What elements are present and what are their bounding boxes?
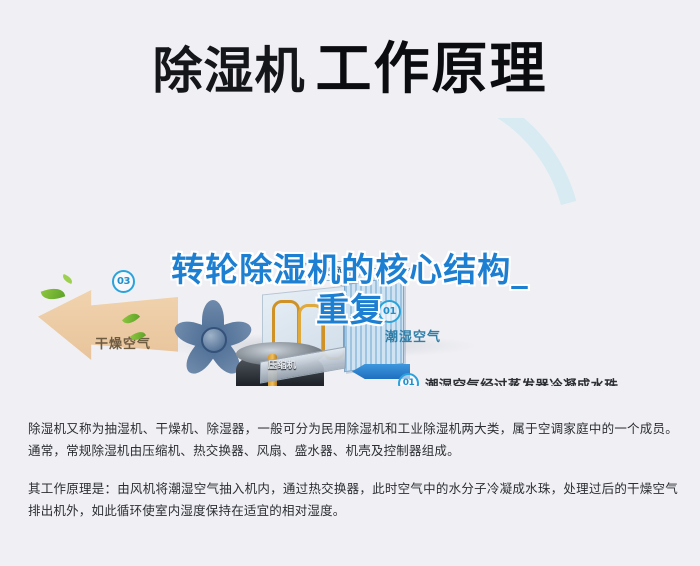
legend-text-01: 潮湿空气经过蒸发器冷凝成水珠	[425, 374, 618, 387]
badge-01: 01	[378, 300, 401, 323]
heat-exchanger-callout: 热交换器	[303, 261, 361, 281]
leaf-icon	[41, 285, 66, 303]
legend-list: 01 潮湿空气经过蒸发器冷凝成水珠 02 潮湿空气经过蒸发器冷凝成水珠 03 从…	[398, 373, 688, 386]
legend-item: 01 潮湿空气经过蒸发器冷凝成水珠	[398, 373, 688, 386]
compressor-label: 压缩机	[268, 358, 297, 371]
dehumidifier-diagram: 干燥空气 02 热交换器 01 潮湿空气 03	[0, 118, 700, 386]
page-title-part2: 工作原理	[316, 37, 548, 102]
moist-air-label: 潮湿空气	[385, 326, 441, 345]
fan-hub	[201, 327, 227, 353]
heat-exchanger-icon	[344, 276, 404, 372]
body-paragraph-1: 除湿机又称为抽湿机、干燥机、除湿器，一般可分为民用除湿机和工业除湿机两大类，属于…	[28, 418, 678, 462]
article-body: 除湿机又称为抽湿机、干燥机、除湿器，一般可分为民用除湿机和工业除湿机两大类，属于…	[28, 418, 678, 538]
page-title-part1: 除湿机	[153, 42, 306, 100]
infographic-page: 除湿机工作原理 干燥空气 02 热交	[0, 0, 700, 566]
page-title: 除湿机工作原理	[0, 24, 700, 105]
leaf-icon	[61, 274, 74, 284]
body-paragraph-2: 其工作原理是：由风机将潮湿空气抽入机内，通过热交换器，此时空气中的水分子冷凝成水…	[28, 478, 678, 522]
badge-03: 03	[112, 270, 135, 293]
legend-badge-01: 01	[398, 373, 419, 386]
